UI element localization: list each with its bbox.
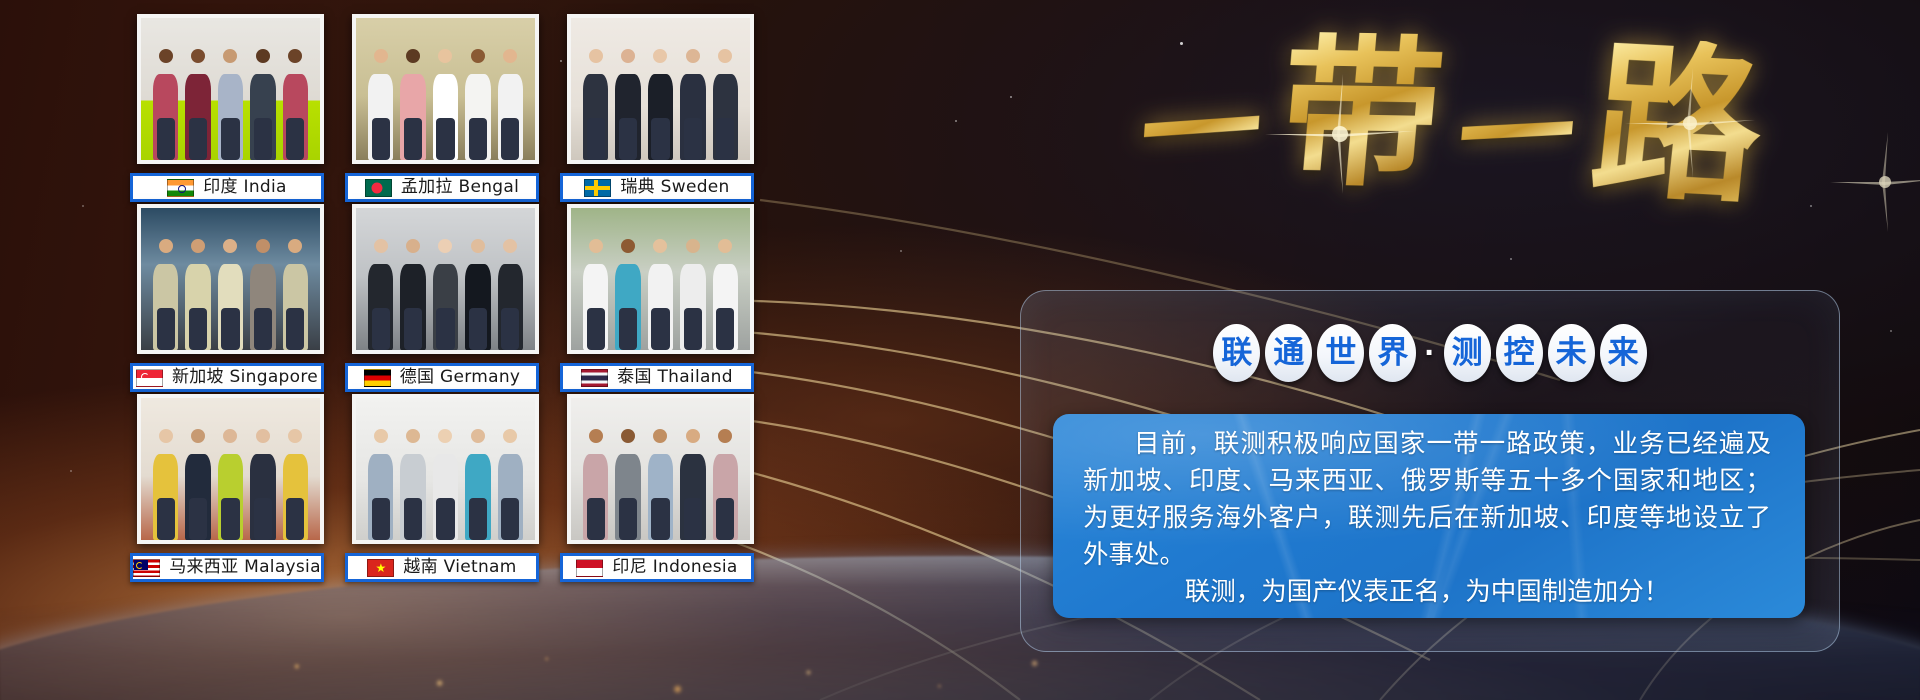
photo-person [183, 239, 213, 350]
country-photo [567, 394, 754, 544]
country-photo [567, 204, 754, 354]
photo-person [580, 239, 610, 350]
calligraphy-char-4: 路 [1585, 36, 1770, 213]
photo-person [280, 239, 310, 350]
photo-person [613, 49, 643, 160]
country-label: 印尼 Indonesia [560, 553, 754, 582]
photo-person [398, 429, 428, 540]
slogan-badge: 控 [1496, 324, 1543, 382]
photo-person [645, 429, 675, 540]
photo-person [398, 239, 428, 350]
country-photo [352, 394, 539, 544]
country-photo [137, 14, 324, 164]
flag-bengal-icon [365, 179, 392, 197]
photo-person [580, 429, 610, 540]
slogan-badge: 来 [1600, 324, 1647, 382]
country-label: 马来西亚 Malaysia [130, 553, 324, 582]
photo-person [248, 429, 278, 540]
flag-thailand-icon [581, 369, 608, 387]
country-label: 泰国 Thailand [560, 363, 754, 392]
photo-person [463, 239, 493, 350]
country-label: 越南 Vietnam [345, 553, 539, 582]
photo-person [280, 429, 310, 540]
country-label: 德国 Germany [345, 363, 539, 392]
country-photo [352, 14, 539, 164]
photo-person [248, 49, 278, 160]
photo-person [365, 49, 395, 160]
photo-person [150, 49, 180, 160]
slogan-badge: 未 [1548, 324, 1595, 382]
country-photo [137, 394, 324, 544]
country-photo [352, 204, 539, 354]
country-label: 孟加拉 Bengal [345, 173, 539, 202]
country-photo [567, 14, 754, 164]
country-card[interactable]: 泰国 Thailand [560, 204, 754, 392]
slogan-badge: 界 [1369, 324, 1416, 382]
country-label-text: 德国 Germany [400, 369, 521, 386]
country-card[interactable]: 瑞典 Sweden [560, 14, 754, 202]
photo-person [150, 429, 180, 540]
country-card[interactable]: 马来西亚 Malaysia [130, 394, 324, 582]
country-label-text: 泰国 Thailand [617, 369, 733, 386]
country-card[interactable]: 越南 Vietnam [345, 394, 539, 582]
photo-person [678, 49, 708, 160]
calligraphy-char-1: 一 [1136, 68, 1265, 196]
photo-person [678, 239, 708, 350]
photo-person [580, 49, 610, 160]
country-card[interactable]: 孟加拉 Bengal [345, 14, 539, 202]
photo-person [215, 429, 245, 540]
photo-person [365, 429, 395, 540]
photo-person [710, 429, 740, 540]
country-label-text: 越南 Vietnam [403, 559, 516, 576]
country-gallery-grid: 印度 India孟加拉 Bengal瑞典 Sweden新加坡 Singapore… [130, 14, 755, 584]
photo-person [150, 239, 180, 350]
photo-person [495, 429, 525, 540]
calligraphy-title: 一 带 一 路 [1042, 8, 1862, 228]
flag-singapore-icon [136, 369, 163, 387]
country-card[interactable]: 德国 Germany [345, 204, 539, 392]
flag-germany-icon [364, 369, 391, 387]
country-label-text: 印度 India [203, 179, 287, 196]
country-label: 印度 India [130, 173, 324, 202]
photo-person [183, 49, 213, 160]
photo-person [678, 429, 708, 540]
description-paragraph-1: 目前，联测积极响应国家一带一路政策，业务已经遍及新加坡、印度、马来西亚、俄罗斯等… [1083, 426, 1771, 574]
photo-person [645, 239, 675, 350]
flag-indonesia-icon [576, 559, 603, 577]
photo-person [710, 239, 740, 350]
photo-person [365, 239, 395, 350]
flag-malaysia-icon [133, 559, 160, 577]
country-photo [137, 204, 324, 354]
slogan-badge: 测 [1444, 324, 1491, 382]
description-paragraph-2: 联测，为国产仪表正名，为中国制造加分！ [1083, 574, 1771, 611]
photo-person [183, 429, 213, 540]
calligraphy-char-2: 带 [1273, 32, 1449, 197]
flag-india-icon [167, 179, 194, 197]
country-label: 瑞典 Sweden [560, 173, 754, 202]
photo-person [430, 429, 460, 540]
photo-person [398, 49, 428, 160]
description-body: 目前，联测积极响应国家一带一路政策，业务已经遍及新加坡、印度、马来西亚、俄罗斯等… [1083, 426, 1771, 611]
banner-stage: 印度 India孟加拉 Bengal瑞典 Sweden新加坡 Singapore… [0, 0, 1920, 700]
photo-person [495, 239, 525, 350]
photo-person [215, 49, 245, 160]
country-label-text: 马来西亚 Malaysia [169, 559, 321, 576]
country-label-text: 瑞典 Sweden [620, 179, 729, 196]
photo-person [248, 239, 278, 350]
country-label-text: 孟加拉 Bengal [401, 179, 519, 196]
calligraphy-char-3: 一 [1453, 75, 1580, 197]
flag-vietnam-icon [367, 559, 394, 577]
photo-person [710, 49, 740, 160]
photo-person [430, 239, 460, 350]
slogan-separator: · [1421, 336, 1438, 370]
slogan-badge: 世 [1317, 324, 1364, 382]
description-panel: 目前，联测积极响应国家一带一路政策，业务已经遍及新加坡、印度、马来西亚、俄罗斯等… [1053, 414, 1805, 618]
photo-person [613, 429, 643, 540]
photo-person [613, 239, 643, 350]
flag-sweden-icon [584, 179, 611, 197]
photo-person [495, 49, 525, 160]
country-label-text: 印尼 Indonesia [612, 559, 737, 576]
photo-person [645, 49, 675, 160]
country-card[interactable]: 印尼 Indonesia [560, 394, 754, 582]
slogan-badge: 通 [1265, 324, 1312, 382]
country-label: 新加坡 Singapore [130, 363, 324, 392]
photo-person [463, 429, 493, 540]
photo-person [280, 49, 310, 160]
slogan-badges: 联通世界·测控未来 [1020, 315, 1840, 391]
country-card[interactable]: 印度 India [130, 14, 324, 202]
country-card[interactable]: 新加坡 Singapore [130, 204, 324, 392]
slogan-badge: 联 [1213, 324, 1260, 382]
country-label-text: 新加坡 Singapore [172, 369, 318, 386]
photo-person [215, 239, 245, 350]
photo-person [430, 49, 460, 160]
photo-person [463, 49, 493, 160]
